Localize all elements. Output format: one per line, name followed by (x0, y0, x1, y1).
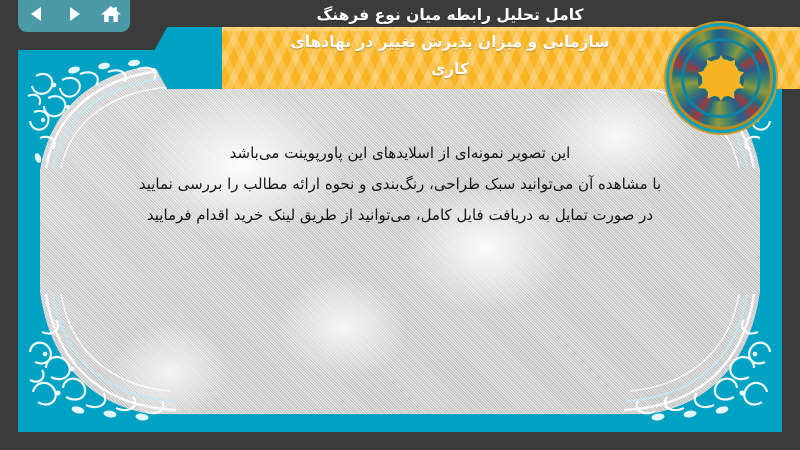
triangle-left-icon (27, 4, 47, 24)
slide-body-text: این تصویر نمونه‌ای از اسلایدهای این پاور… (60, 138, 740, 231)
triangle-right-icon (64, 4, 84, 24)
slide-navigation-bar (18, 0, 130, 32)
home-button[interactable] (98, 1, 124, 27)
title-line-3: کاری (240, 56, 660, 83)
body-line-3: در صورت تمایل به دریافت فایل کامل، می‌تو… (60, 200, 740, 231)
title-line-2: سازمانی و میزان پذیرش تغییر در نهادهای (240, 29, 660, 56)
persian-medallion-ornament (672, 29, 770, 127)
previous-slide-button[interactable] (24, 1, 50, 27)
next-slide-button[interactable] (61, 1, 87, 27)
title-line-1: کامل تحلیل رابطه میان نوع فرهنگ (240, 2, 660, 29)
body-line-1: این تصویر نمونه‌ای از اسلایدهای این پاور… (60, 138, 740, 169)
page-title: کامل تحلیل رابطه میان نوع فرهنگ سازمانی … (240, 2, 660, 83)
body-line-2: با مشاهده آن می‌توانید سبک طراحی، رنگ‌بن… (60, 169, 740, 200)
home-icon (100, 4, 122, 24)
presentation-slide: کامل تحلیل رابطه میان نوع فرهنگ سازمانی … (0, 0, 800, 450)
slide-content-panel (40, 68, 760, 414)
